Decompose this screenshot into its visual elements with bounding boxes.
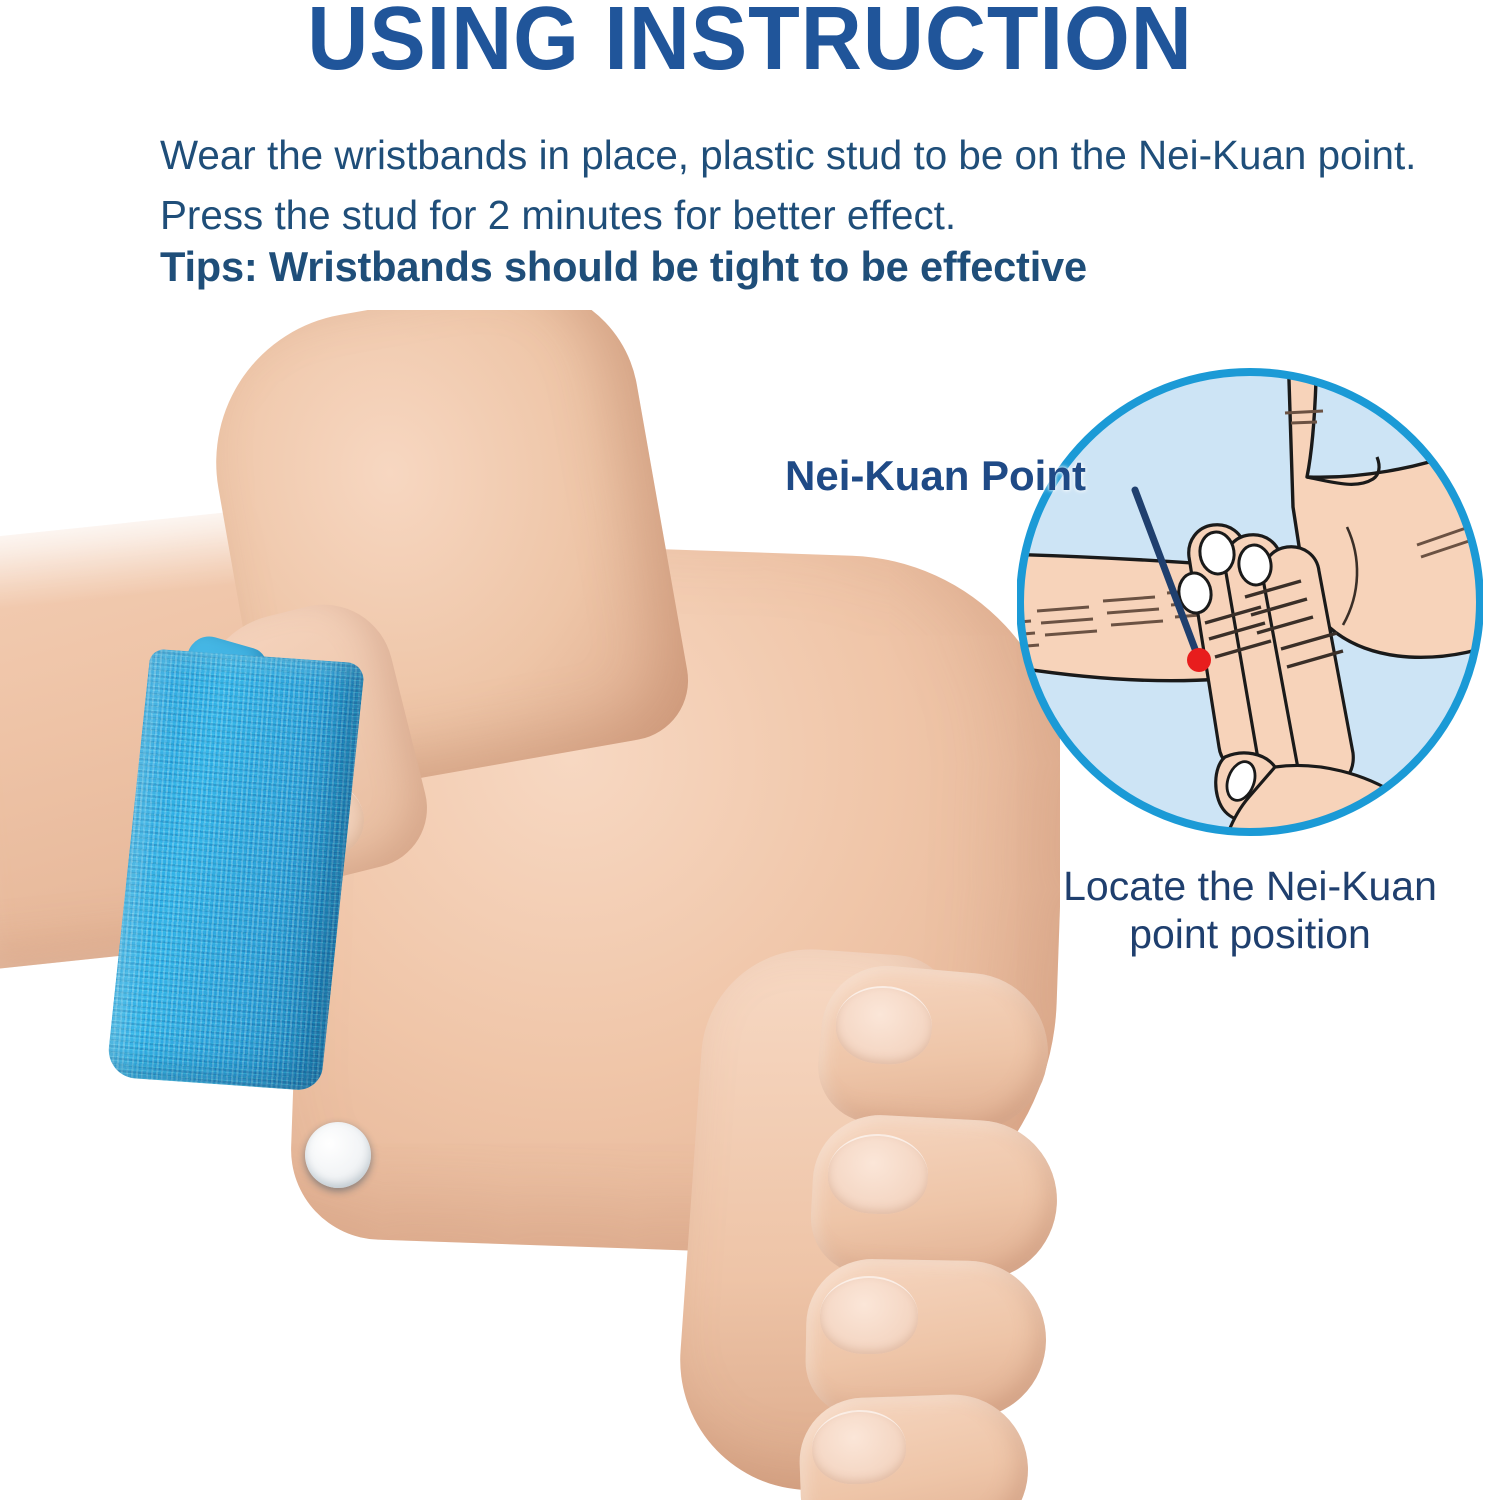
nei-kuan-point-label: Nei-Kuan Point: [785, 452, 1086, 500]
instruction-paragraph: Wear the wristbands in place, plastic st…: [160, 126, 1460, 246]
illustration-knuckle-tick-1: [1285, 411, 1323, 413]
diagram-caption-line-2: point position: [1000, 910, 1500, 958]
nei-kuan-diagram: [1017, 357, 1483, 847]
header-section: USING INSTRUCTION Wear the wristbands in…: [0, 0, 1500, 310]
page-title: USING INSTRUCTION: [45, 0, 1455, 84]
diagram-caption-line-1: Locate the Nei-Kuan: [1000, 862, 1500, 910]
wristband-texture: [106, 649, 365, 1092]
fingernail-ring: [820, 1276, 918, 1354]
nei-kuan-point-marker: [1187, 648, 1211, 672]
nei-kuan-diagram-svg: [1017, 357, 1483, 847]
diagram-caption: Locate the Nei-Kuan point position: [1000, 862, 1500, 959]
product-instruction-page: USING INSTRUCTION Wear the wristbands in…: [0, 0, 1500, 1500]
tips-line: Tips: Wristbands should be tight to be e…: [160, 243, 1477, 291]
illustration-knuckle-tick-2: [1291, 422, 1317, 423]
